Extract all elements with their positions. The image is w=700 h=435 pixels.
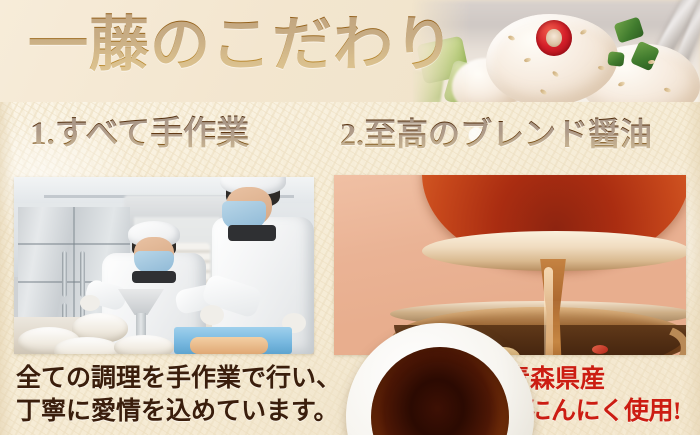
chili-piece — [592, 345, 608, 354]
chili-ring-icon — [536, 20, 572, 56]
section-1-photo — [14, 177, 314, 354]
header-food-photo — [412, 0, 700, 102]
section-2-photo — [334, 175, 686, 355]
section-heading-1: 1.すべて手作業 — [30, 112, 249, 156]
food-on-tray — [190, 337, 268, 354]
caption-line: 全ての調理を手作業で行い、 — [16, 362, 341, 395]
section-1-caption: 全ての調理を手作業で行い、 丁寧に愛情を込めています。 — [16, 362, 341, 428]
page-title: 一藤のこだわり — [28, 12, 455, 78]
pouring-stream-highlight — [544, 267, 553, 355]
scallion-piece — [607, 51, 624, 67]
soy-sauce-liquid — [371, 347, 509, 435]
white-bowl — [114, 335, 174, 354]
promo-banner: 一藤のこだわり 1.すべて手作業 2.至高のブレンド醤油 — [0, 0, 700, 435]
caption-line: 丁寧に愛情を込めています。 — [16, 395, 341, 428]
section-heading-2: 2.至高のブレンド醤油 — [340, 112, 652, 156]
